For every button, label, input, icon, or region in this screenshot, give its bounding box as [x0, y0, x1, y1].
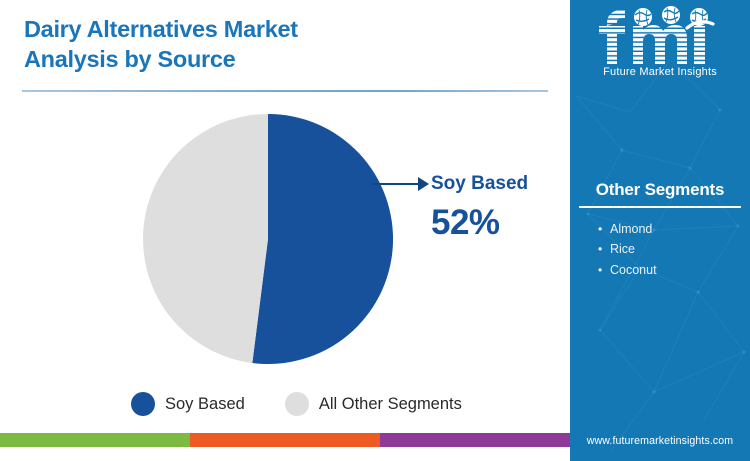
bottom-bar-segment-green — [0, 433, 190, 447]
legend-label-soy-based: Soy Based — [165, 395, 245, 414]
segment-label-coconut: Coconut — [610, 262, 657, 279]
bottom-color-bar — [0, 433, 570, 447]
legend-swatch-soy-based — [131, 392, 155, 416]
other-segments-list: • Almond • Rice • Coconut — [598, 221, 657, 282]
bullet-icon: • — [598, 221, 610, 238]
bottom-bar-segment-purple — [380, 433, 570, 447]
pie-slice-all-other-segments — [143, 114, 268, 363]
fmi-logo-tagline: Future Market Insights — [570, 66, 750, 78]
left-content-panel: Dairy Alternatives Market Analysis by So… — [0, 0, 570, 447]
list-item: • Rice — [598, 241, 657, 258]
pie-slice-soy-based — [252, 114, 393, 364]
page-title-line-1: Dairy Alternatives Market — [24, 14, 444, 44]
callout-leader-line — [372, 183, 420, 185]
legend-item-soy-based: Soy Based — [131, 392, 245, 416]
segment-label-rice: Rice — [610, 241, 635, 258]
fmi-logo-mark — [593, 6, 727, 64]
fmi-logo: Future Market Insights — [570, 6, 750, 86]
pie-chart — [143, 114, 393, 364]
bullet-icon: • — [598, 241, 610, 258]
list-item: • Coconut — [598, 262, 657, 279]
legend-item-all-other-segments: All Other Segments — [285, 392, 462, 416]
callout-value: 52% — [431, 203, 500, 243]
legend-swatch-all-other-segments — [285, 392, 309, 416]
other-segments-title: Other Segments — [570, 180, 750, 200]
bottom-bar-segment-orange — [190, 433, 380, 447]
list-item: • Almond — [598, 221, 657, 238]
page-title: Dairy Alternatives Market Analysis by So… — [24, 14, 444, 74]
chart-legend: Soy Based All Other Segments — [131, 392, 502, 416]
title-divider — [22, 90, 548, 92]
legend-label-all-other-segments: All Other Segments — [319, 395, 462, 414]
segment-label-almond: Almond — [610, 221, 652, 238]
website-url[interactable]: www.futuremarketinsights.com — [570, 435, 750, 447]
infographic-root: Dairy Alternatives Market Analysis by So… — [0, 0, 750, 461]
bullet-icon: • — [598, 262, 610, 279]
other-segments-divider — [579, 206, 741, 208]
page-title-line-2: Analysis by Source — [24, 44, 444, 74]
right-side-panel: Future Market Insights Other Segments • … — [570, 0, 750, 461]
callout-label: Soy Based — [431, 173, 528, 195]
pie-chart-svg — [143, 114, 393, 364]
callout-arrow-icon — [418, 177, 429, 191]
